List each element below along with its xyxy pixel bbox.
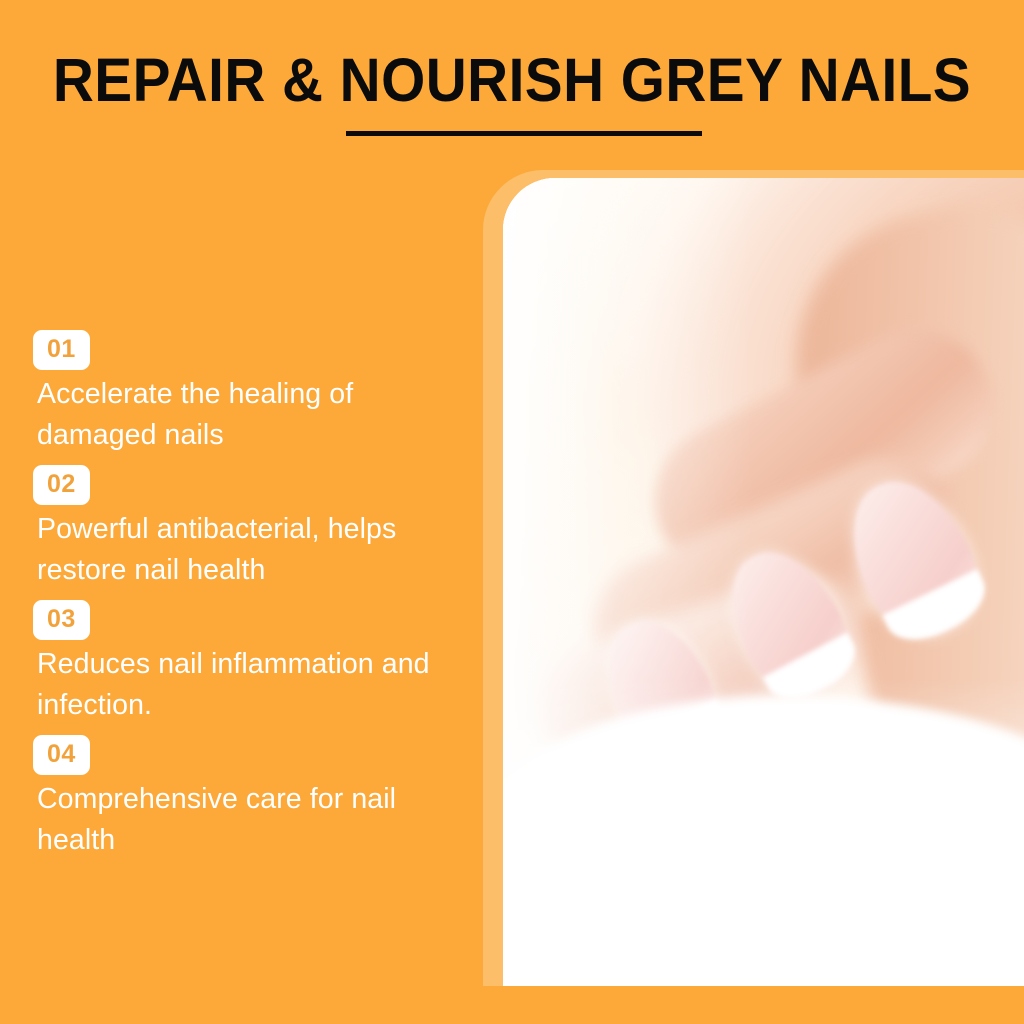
poster-header: REPAIR & NOURISH GREY NAILS [0,0,1024,150]
benefit-number-badge: 03 [33,600,90,640]
benefit-description: Reduces nail inflammation and infection. [37,644,463,726]
benefit-number-badge: 04 [33,735,90,775]
page-title: REPAIR & NOURISH GREY NAILS [36,48,988,112]
benefit-item: 01 Accelerate the healing of damaged nai… [33,330,463,456]
benefit-description: Powerful antibacterial, helps restore na… [37,509,463,591]
benefit-item: 03 Reduces nail inflammation and infecti… [33,600,463,726]
benefit-item: 04 Comprehensive care for nail health [33,735,463,861]
benefit-description: Comprehensive care for nail health [37,779,463,861]
benefit-description: Accelerate the healing of damaged nails [37,374,463,456]
photo-vignette-layer [503,178,1024,986]
photo-panel [503,178,1024,986]
title-underline-divider [346,131,702,136]
nails-photo [503,178,1024,986]
benefits-list: 01 Accelerate the healing of damaged nai… [33,330,463,870]
benefit-number-badge: 02 [33,465,90,505]
benefit-number-badge: 01 [33,330,90,370]
benefit-item: 02 Powerful antibacterial, helps restore… [33,465,463,591]
product-benefits-poster: REPAIR & NOURISH GREY NAILS 01 Accelera [0,0,1024,1024]
